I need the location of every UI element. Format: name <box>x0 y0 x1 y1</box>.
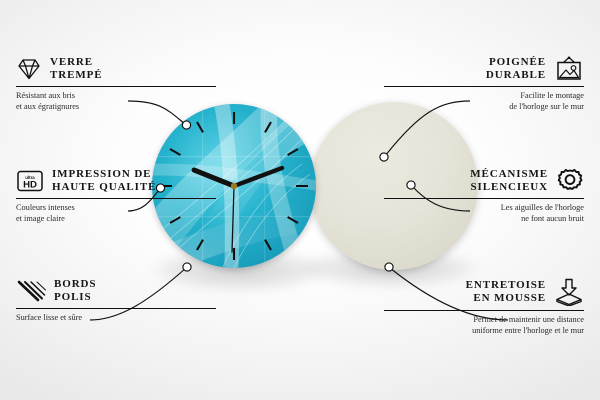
infographic-canvas: VERRE TREMPÉ Résistant aux bris et aux é… <box>0 0 600 400</box>
feature-divider <box>16 308 216 309</box>
feature-header: POIGNÉE DURABLE <box>384 56 584 82</box>
feature-title: POIGNÉE DURABLE <box>486 56 546 82</box>
feature-header: ENTRETOISE EN MOUSSE <box>384 278 584 306</box>
hands-cap <box>231 183 237 189</box>
gear-icon <box>556 168 584 194</box>
feature-entretoise-en-mousse: ENTRETOISE EN MOUSSE Permet de maintenir… <box>384 278 584 336</box>
foam-spacer-arrow-icon <box>554 278 584 306</box>
feature-title: VERRE TREMPÉ <box>50 56 102 82</box>
feature-title: BORDS POLIS <box>54 278 96 304</box>
feature-mecanisme-silencieux: MÉCANISME SILENCIEUX Les aiguilles de l'… <box>384 168 584 224</box>
feature-description: Couleurs intenses et image claire <box>16 203 216 223</box>
feature-poignee-durable: POIGNÉE DURABLE Facilite le montage de l… <box>384 56 584 112</box>
feature-header: ultra HD IMPRESSION DE HAUTE QUALITÉ <box>16 168 216 194</box>
feature-divider <box>384 198 584 199</box>
picture-frame-hanger-icon <box>554 56 584 82</box>
feature-description: Facilite le montage de l'horloge sur le … <box>384 91 584 111</box>
feature-description: Surface lisse et sûre <box>16 313 216 323</box>
feature-header: BORDS POLIS <box>16 278 216 304</box>
feature-title: ENTRETOISE EN MOUSSE <box>466 279 546 305</box>
feature-divider <box>384 86 584 87</box>
feature-verre-trempe: VERRE TREMPÉ Résistant aux bris et aux é… <box>16 56 216 112</box>
feature-description: Les aiguilles de l'horloge ne font aucun… <box>384 203 584 223</box>
feature-divider <box>384 310 584 311</box>
feature-title: MÉCANISME SILENCIEUX <box>470 168 548 194</box>
feature-divider <box>16 86 216 87</box>
polished-edges-icon <box>16 279 46 303</box>
feature-description: Résistant aux bris et aux égratignures <box>16 91 216 111</box>
feature-divider <box>16 198 216 199</box>
ultra-hd-icon: ultra HD <box>16 169 44 193</box>
feature-impression-haute-qualite: ultra HD IMPRESSION DE HAUTE QUALITÉ Cou… <box>16 168 216 224</box>
diamond-icon <box>16 57 42 81</box>
feature-bords-polis: BORDS POLIS Surface lisse et sûre <box>16 278 216 324</box>
feature-header: MÉCANISME SILENCIEUX <box>384 168 584 194</box>
ultra-hd-icon-bottom-label: HD <box>23 179 37 190</box>
feature-description: Permet de maintenir une distance uniform… <box>384 315 584 335</box>
feature-title: IMPRESSION DE HAUTE QUALITÉ <box>52 168 156 194</box>
feature-header: VERRE TREMPÉ <box>16 56 216 82</box>
